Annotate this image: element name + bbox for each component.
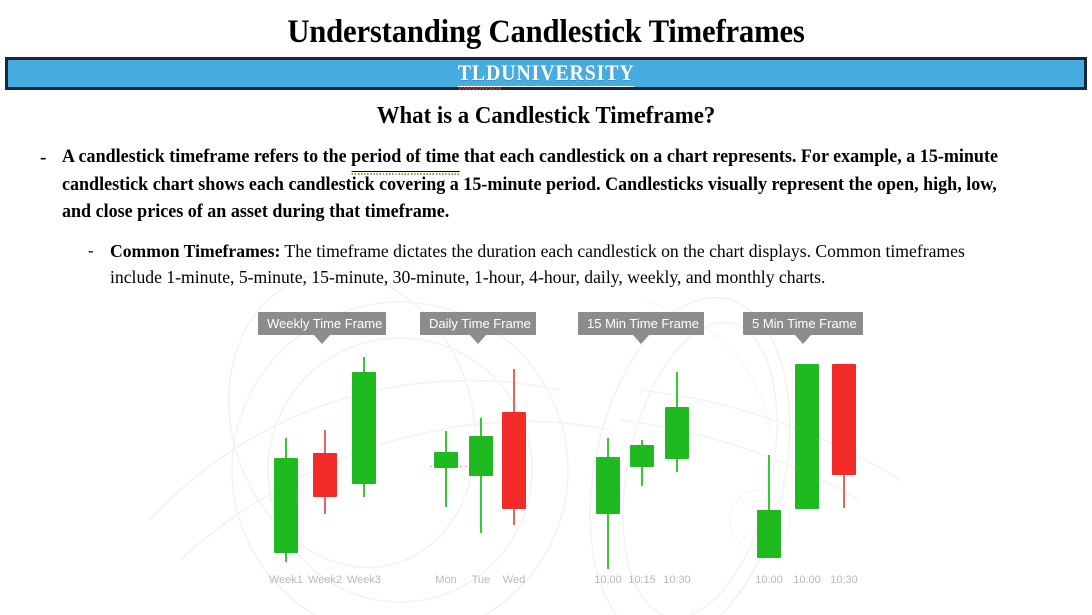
timeframe-label-4: 5 Min Time Frame: [743, 312, 863, 335]
page-title: Understanding Candlestick Timeframes: [38, 14, 1054, 51]
candle-body-down: [313, 453, 337, 497]
candle-body-down: [502, 412, 526, 509]
candlestick-chart: Weekly Time FrameWeek1Week2Week3Daily Ti…: [230, 312, 890, 612]
timeframe-label-3: 15 Min Time Frame: [578, 312, 704, 335]
banner-rest-text: UNIVERSITY: [501, 60, 634, 87]
axis-tick-label: Wed: [490, 574, 538, 586]
banner-misspelled-word: TLD: [458, 60, 501, 87]
bullet-item-secondary: - Common Timeframes: The timeframe dicta…: [88, 238, 1033, 290]
bullet-segment-lead: A candlestick timeframe refers to the: [62, 147, 351, 167]
axis-tick-label: 10:30: [820, 574, 868, 586]
timeframe-label-2: Daily Time Frame: [420, 312, 536, 335]
label-pointer-icon: [470, 335, 486, 344]
bullet-item-primary: - A candlestick timeframe refers to the …: [40, 144, 1048, 226]
candle-body-up: [469, 436, 493, 476]
section-heading: What is a Candlestick Timeframe?: [27, 103, 1064, 130]
candle-body-up: [596, 457, 620, 514]
university-banner: TLD UNIVERSITY: [5, 57, 1087, 90]
candle-body-up: [274, 458, 298, 553]
candle-body-up: [352, 372, 376, 484]
grammar-flagged-phrase: period of time: [351, 144, 459, 172]
candle-body-up: [630, 445, 654, 467]
axis-tick-label: 10:30: [653, 574, 701, 586]
axis-tick-label: Week3: [340, 574, 388, 586]
candle-body-up: [665, 407, 689, 459]
bullet-lead-bold: Common Timeframes:: [110, 241, 280, 261]
label-pointer-icon: [314, 335, 330, 344]
banner-text: TLD UNIVERSITY: [458, 60, 635, 87]
candle-body-up: [757, 510, 781, 558]
timeframe-label-1: Weekly Time Frame: [258, 312, 386, 335]
bullet-text-secondary: Common Timeframes: The timeframe dictate…: [110, 238, 1015, 290]
candle-body-down: [832, 364, 856, 475]
label-pointer-icon: [795, 335, 811, 344]
bullet-marker-secondary: -: [88, 238, 110, 290]
candle-body-up: [795, 364, 819, 509]
candle-wick: [445, 431, 447, 507]
label-pointer-icon: [633, 335, 649, 344]
bullet-text-primary: A candlestick timeframe refers to the pe…: [62, 144, 1023, 226]
bullet-marker: -: [40, 144, 62, 226]
candle-body-up: [434, 452, 458, 468]
